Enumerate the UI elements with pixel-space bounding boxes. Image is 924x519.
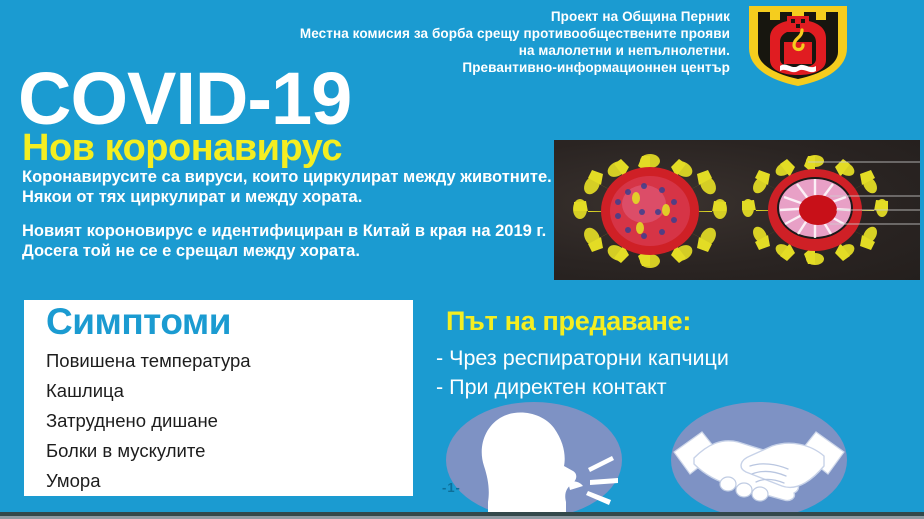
page-number: -1- [442,480,461,495]
coronavirus-image [554,140,920,280]
coat-of-arms-pernik-icon [746,4,850,88]
page-subtitle: Нов коронавирус [22,128,342,168]
symptoms-card: Симптоми Повишена температура Кашлица За… [24,300,413,496]
transmission-list: - Чрез респираторни капчици - При директ… [436,344,906,402]
virion-whole-icon [570,152,730,270]
list-item: Кашлица [46,376,406,406]
list-item: Затруднено дишане [46,406,406,436]
intro-paragraph-2: Новият короновирус е идентифициран в Кит… [22,222,552,261]
symptoms-title: Симптоми [46,302,231,342]
header-line-1: Проект на Община Перник [90,8,730,25]
list-item: Болки в мускулите [46,436,406,466]
intro-paragraph-1: Коронавирусите са вируси, които циркулир… [22,168,552,207]
coughing-head-icon [446,398,636,519]
intro-text: Коронавирусите са вируси, които циркулир… [22,168,552,261]
list-item: Повишена температура [46,346,406,376]
transmission-title: Път на предаване: [446,306,691,336]
covid-info-poster: Проект на Община Перник Местна комисия з… [0,0,924,519]
handshake-icon [664,398,854,519]
list-item: - Чрез респираторни капчици [436,344,906,373]
page-title: COVID-19 [18,62,351,136]
symptoms-list: Повишена температура Кашлица Затруднено … [46,346,406,496]
list-item: Умора [46,466,406,496]
virus-callout-lines [790,140,920,280]
header-line-2: Местна комисия за борба срещу противообщ… [90,25,730,42]
